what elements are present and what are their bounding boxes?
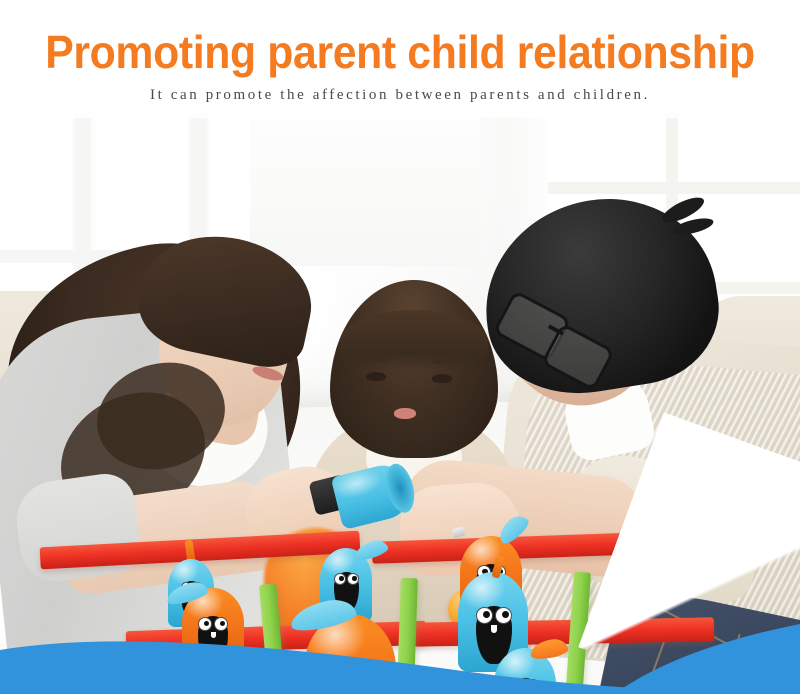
wave-shape-right [614, 624, 800, 694]
child-eye-right [432, 374, 452, 383]
child-eyebrow-right [432, 360, 454, 364]
child-eye-left [366, 372, 386, 381]
child-mouth [394, 408, 416, 419]
child-eyebrow-left [366, 358, 388, 362]
page-title: Promoting parent child relationship [28, 0, 772, 78]
wall-panel [250, 96, 480, 266]
promo-banner: Promoting parent child relationship It c… [0, 0, 800, 694]
mole-smile [338, 585, 355, 595]
lifestyle-photo [0, 96, 800, 694]
child-bangs [340, 310, 488, 372]
mole-eyes [334, 572, 359, 585]
blue-wave-footer [0, 614, 800, 694]
